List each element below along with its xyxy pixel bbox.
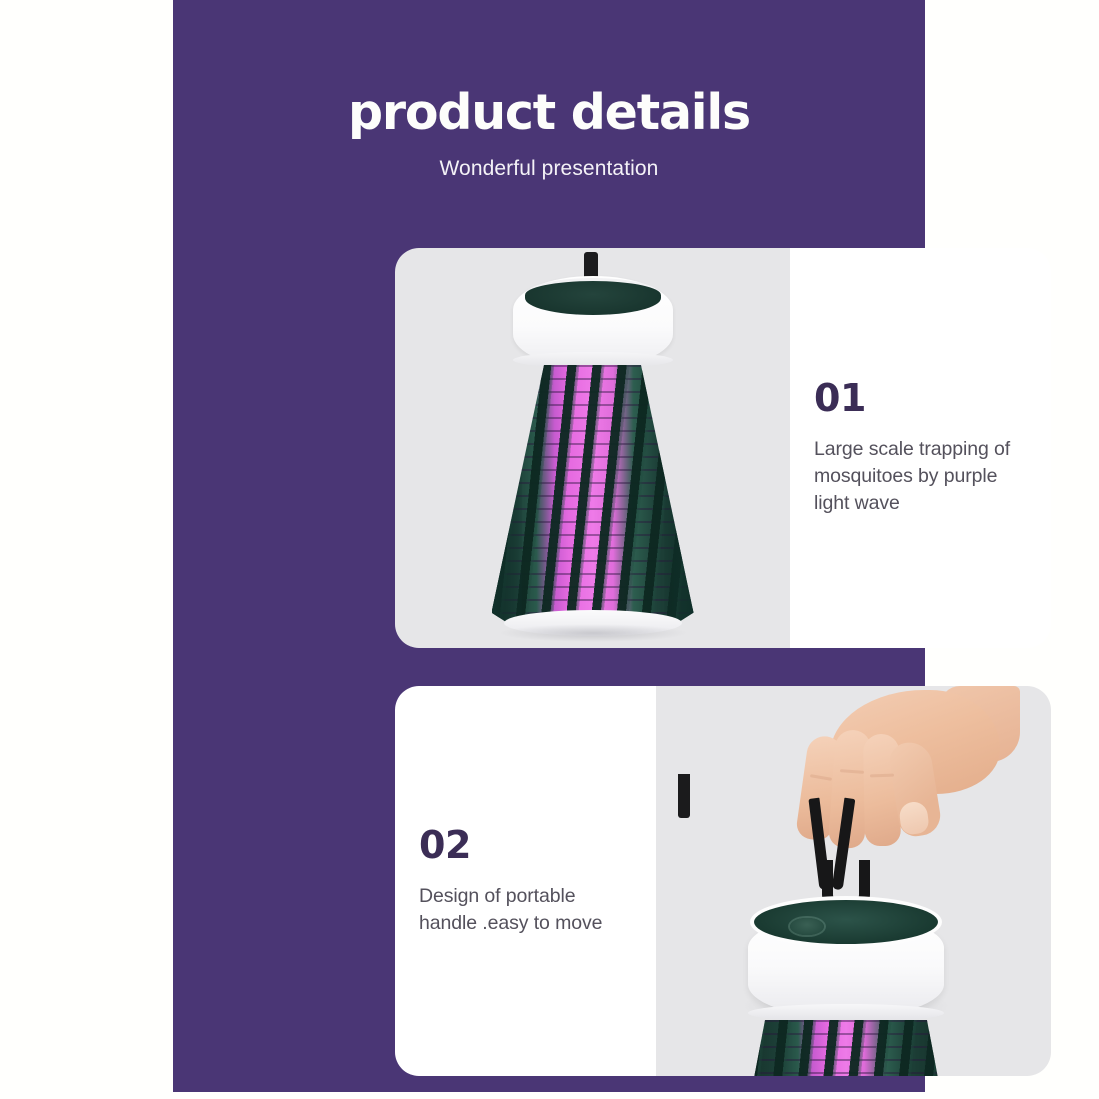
lamp-green-cage <box>492 365 694 623</box>
lamp2-seam <box>748 1004 944 1022</box>
feature-01-number: 01 <box>814 379 1025 417</box>
lamp-shadow <box>498 624 688 642</box>
page-title: product details <box>173 0 925 137</box>
feature-02-text-card: 02 Design of portable handle .easy to mo… <box>395 686 656 1076</box>
lamp-cage-edge-left <box>492 365 522 623</box>
lamp2-green-top <box>750 896 942 948</box>
feature-02-description: Design of portable handle .easy to move <box>419 883 634 937</box>
feature-01-description: Large scale trapping of mosquitoes by pu… <box>814 436 1025 517</box>
feature-01-text-card: 01 Large scale trapping of mosquitoes by… <box>790 248 1051 648</box>
lamp-green-top-recess <box>525 278 661 315</box>
lamp2-green-cage <box>754 1020 938 1076</box>
mosquito-lamp-illustration <box>468 252 718 644</box>
purple-background-panel: product details Wonderful presentation <box>173 0 925 1092</box>
feature-card-01: 01 Large scale trapping of mosquitoes by… <box>395 248 1051 648</box>
lamp2-power-button <box>790 918 824 935</box>
page-header: product details Wonderful presentation <box>173 0 925 181</box>
lamp-cage-edge-right <box>664 365 694 623</box>
feature-01-image <box>395 248 790 648</box>
lamp2-vertical-slats <box>754 1020 938 1076</box>
lamp-strap-handle <box>806 798 858 890</box>
feature-02-number: 02 <box>419 826 634 864</box>
hand-holding-lamp-illustration <box>656 686 1051 1076</box>
feature-card-02: 02 Design of portable handle .easy to mo… <box>395 686 1051 1076</box>
strap-stem <box>678 774 690 818</box>
page-subtitle: Wonderful presentation <box>173 137 925 181</box>
product-details-page: product details Wonderful presentation <box>0 0 1099 1099</box>
feature-02-image <box>656 686 1051 1076</box>
